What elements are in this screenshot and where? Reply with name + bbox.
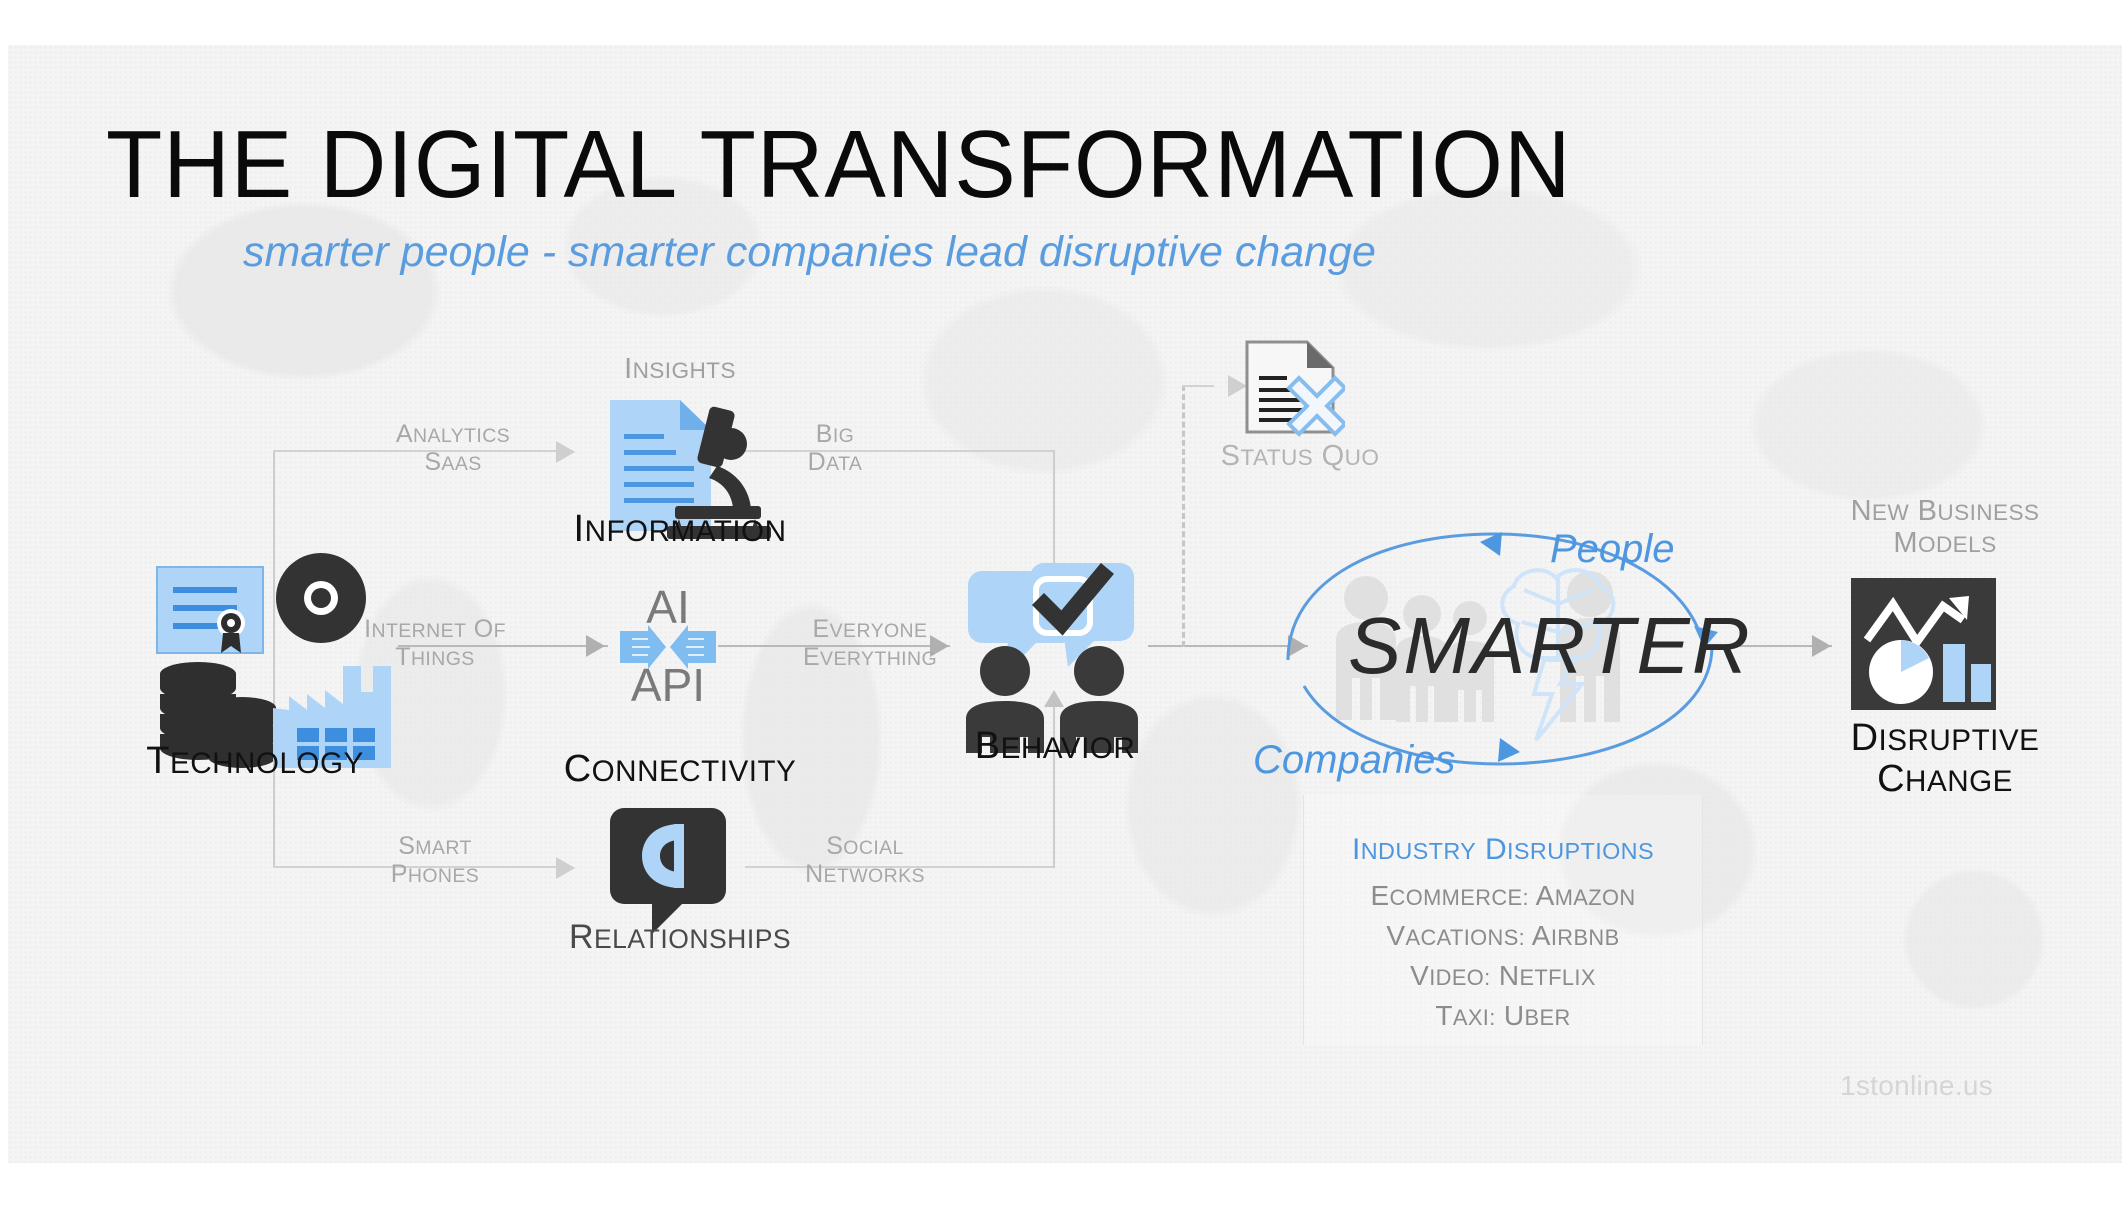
node-label-disruptive-change: DISRUPTIVE CHANGE (1760, 718, 2126, 800)
node-top-label-insights: INSIGHTS (560, 353, 800, 385)
analytics-chart-icon (1851, 578, 1996, 710)
disruption-item-vacations: VACATIONS: AIRBNB (1303, 920, 1703, 951)
smarter-people-label: People (1550, 527, 1675, 572)
connector-label-analytics-saas: ANALYTICS SAAS (353, 420, 553, 476)
node-label-information: INFORMATION (495, 508, 865, 551)
node-label-status-quo: STATUS QUO (1190, 440, 1410, 472)
connector-label-smart-phones: SMART PHONES (335, 832, 535, 888)
node-label-connectivity: CONNECTIVITY (490, 748, 870, 791)
disruption-item-taxi: TAXI: UBER (1303, 1000, 1703, 1031)
node-label-behavior: BEHAVIOR (920, 725, 1190, 768)
certificate-icon (155, 565, 265, 655)
connectivity-api-text: API (608, 658, 728, 712)
page-title: THE DIGITAL TRANSFORMATION (106, 110, 1571, 220)
connector-label-social-networks: SOCIAL NETWORKS (765, 832, 965, 888)
status-quo-stub-line (1182, 385, 1214, 387)
node-label-technology: TECHNOLOGY (90, 740, 420, 783)
site-watermark: 1stonline.us (1840, 1070, 1993, 1102)
connector-label-everyone-everything: EVERYONE EVERYTHING (760, 615, 980, 671)
disruption-item-video: VIDEO: NETFLIX (1303, 960, 1703, 991)
page-subtitle: smarter people - smarter companies lead … (243, 228, 1376, 277)
phone-bubble-icon (608, 806, 728, 936)
disruption-item-ecommerce: ECOMMERCE: AMAZON (1303, 880, 1703, 911)
industry-disruptions-title: INDUSTRY DISRUPTIONS (1303, 833, 1703, 867)
smarter-to-change-arrow (1812, 635, 1831, 657)
smarter-label: SMARTER (1348, 600, 1752, 692)
smarter-companies-label: Companies (1253, 738, 1455, 783)
disc-icon (275, 552, 367, 644)
infographic-canvas: THE DIGITAL TRANSFORMATION smarter peopl… (0, 0, 2126, 1211)
tech-to-information-arrow (556, 441, 575, 463)
status-quo-dashed-line (1182, 385, 1185, 647)
node-label-relationships: RELATIONSHIPS (490, 918, 870, 956)
tech-to-relationships-arrow (556, 857, 575, 879)
node-top-label-new-business-models: NEW BUSINESS MODELS (1790, 495, 2100, 560)
tech-to-connectivity-arrow (586, 635, 605, 657)
document-x-icon (1245, 340, 1345, 445)
